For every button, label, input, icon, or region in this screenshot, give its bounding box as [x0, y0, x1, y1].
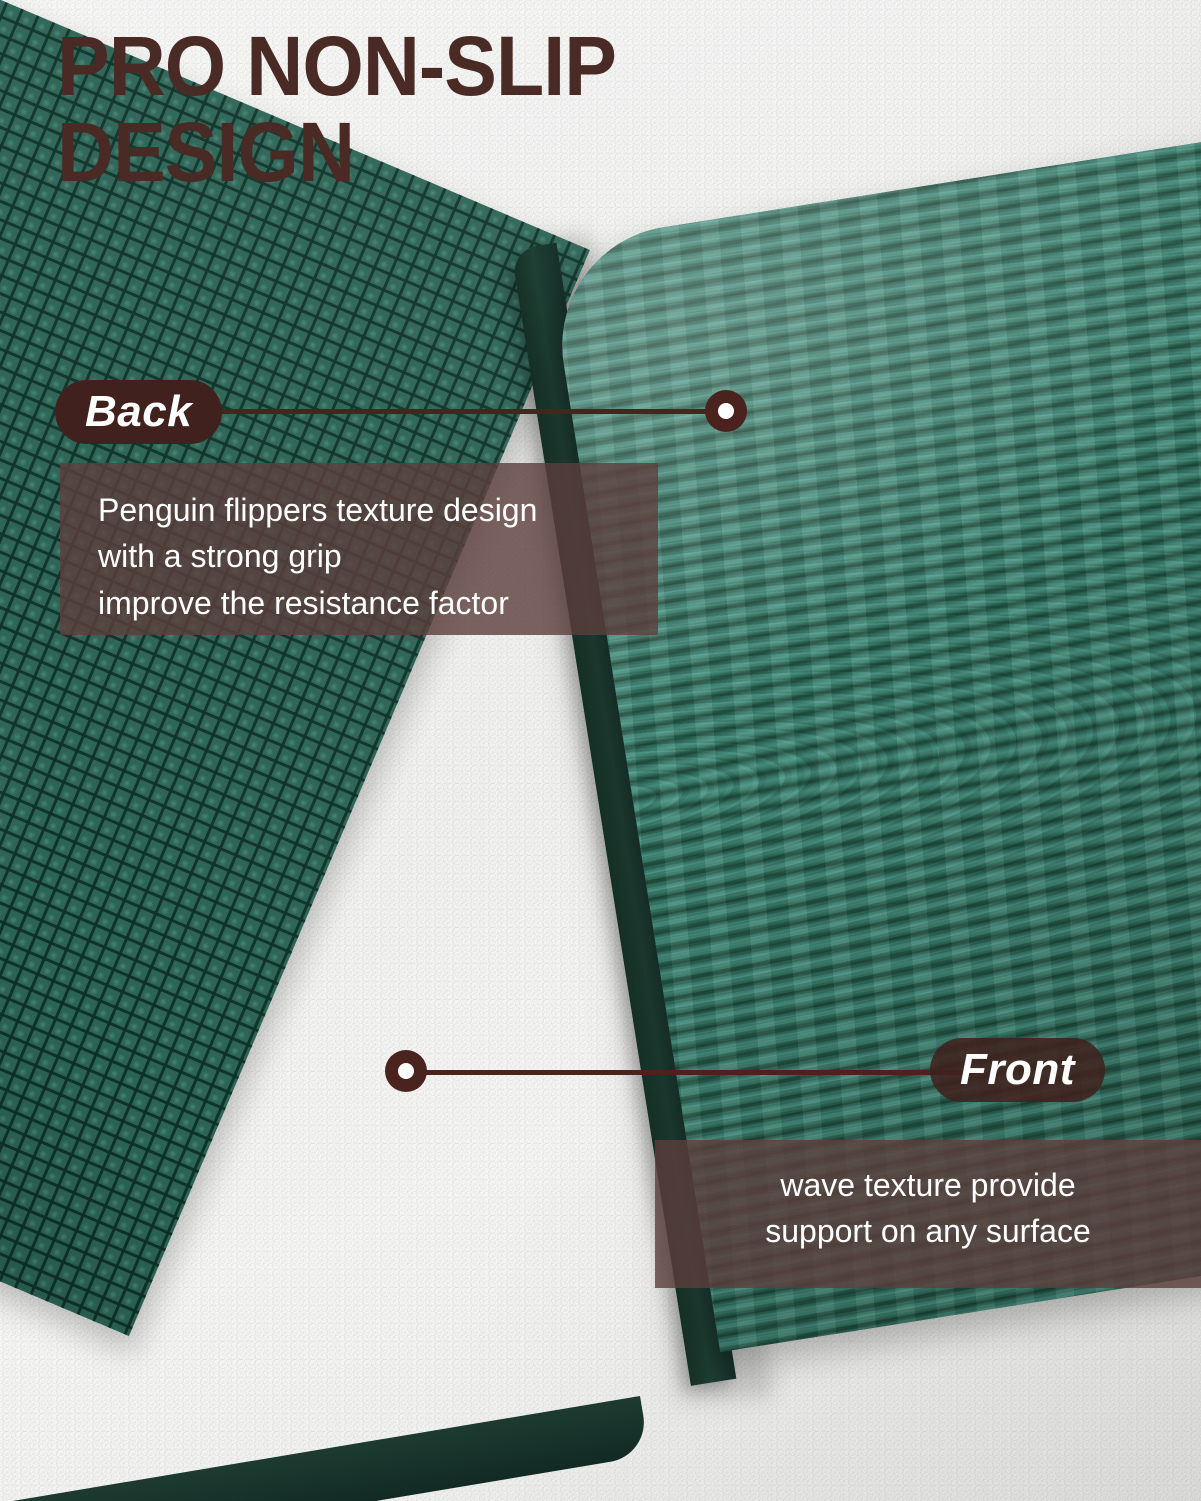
- back-callout-caption: Penguin flippers texture design with a s…: [60, 463, 658, 635]
- front-callout-caption: wave texture provide support on any surf…: [655, 1140, 1201, 1288]
- back-callout-dot-icon: [705, 390, 747, 432]
- product-feature-graphic: PRO NON-SLIP DESIGN Back Penguin flipper…: [0, 0, 1201, 1501]
- page-title: PRO NON-SLIP DESIGN: [57, 24, 903, 195]
- back-leader-line: [205, 409, 735, 414]
- front-callout-label: Front: [930, 1038, 1105, 1102]
- front-leader-line: [405, 1070, 975, 1075]
- front-callout-dot-icon: [385, 1050, 427, 1092]
- back-callout-label: Back: [55, 380, 222, 444]
